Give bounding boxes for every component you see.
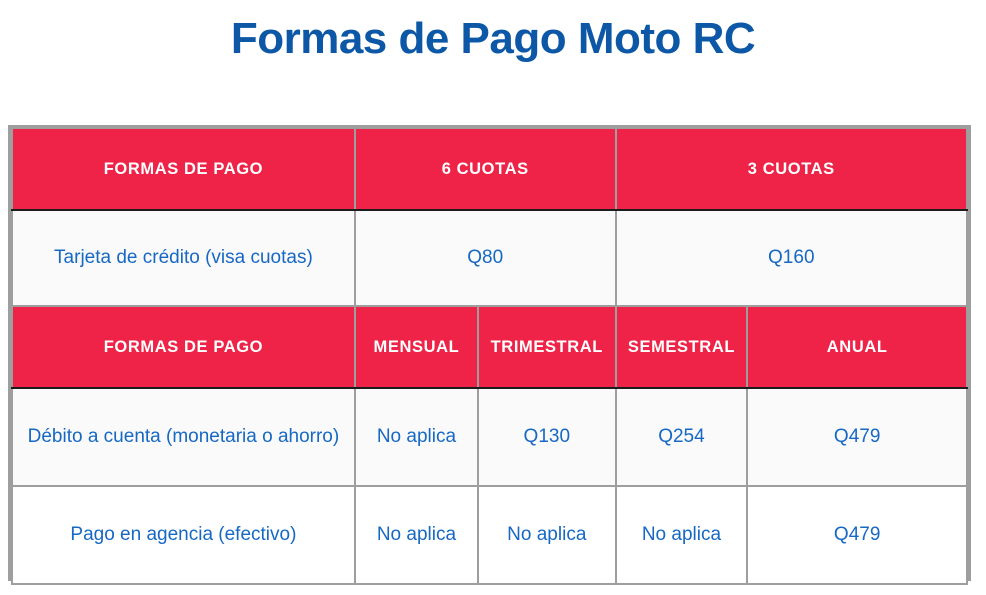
row-label-debito-cuenta: Débito a cuenta (monetaria o ahorro) — [12, 388, 355, 486]
cell-agencia-trimestral: No aplica — [478, 486, 616, 584]
payment-methods-page: Formas de Pago Moto RC FORMAS DE PAGO 6 … — [0, 0, 986, 595]
table-row-tarjeta-credito: Tarjeta de crédito (visa cuotas) Q80 Q16… — [12, 210, 967, 306]
row-label-tarjeta-credito: Tarjeta de crédito (visa cuotas) — [12, 210, 355, 306]
table-row-pago-agencia: Pago en agencia (efectivo) No aplica No … — [12, 486, 967, 584]
header-6-cuotas: 6 CUOTAS — [355, 128, 616, 210]
header-formas-de-pago-2: FORMAS DE PAGO — [12, 306, 355, 388]
header-semestral: SEMESTRAL — [616, 306, 748, 388]
cell-debito-mensual: No aplica — [355, 388, 478, 486]
header-3-cuotas: 3 CUOTAS — [616, 128, 967, 210]
cell-agencia-anual: Q479 — [747, 486, 967, 584]
cell-tarjeta-3-cuotas: Q160 — [616, 210, 967, 306]
header-mensual: MENSUAL — [355, 306, 478, 388]
header-formas-de-pago-1: FORMAS DE PAGO — [12, 128, 355, 210]
cell-tarjeta-6-cuotas: Q80 — [355, 210, 616, 306]
payment-methods-table-container: FORMAS DE PAGO 6 CUOTAS 3 CUOTAS Tarjeta… — [8, 125, 971, 581]
header-trimestral: TRIMESTRAL — [478, 306, 616, 388]
header-anual: ANUAL — [747, 306, 967, 388]
table-header-row-cuotas: FORMAS DE PAGO 6 CUOTAS 3 CUOTAS — [12, 128, 967, 210]
table-row-debito-cuenta: Débito a cuenta (monetaria o ahorro) No … — [12, 388, 967, 486]
cell-debito-trimestral: Q130 — [478, 388, 616, 486]
cell-agencia-mensual: No aplica — [355, 486, 478, 584]
cell-debito-semestral: Q254 — [616, 388, 748, 486]
page-title: Formas de Pago Moto RC — [0, 14, 986, 65]
payment-methods-table: FORMAS DE PAGO 6 CUOTAS 3 CUOTAS Tarjeta… — [11, 127, 968, 585]
row-label-pago-agencia: Pago en agencia (efectivo) — [12, 486, 355, 584]
table-header-row-periodos: FORMAS DE PAGO MENSUAL TRIMESTRAL SEMEST… — [12, 306, 967, 388]
cell-debito-anual: Q479 — [747, 388, 967, 486]
cell-agencia-semestral: No aplica — [616, 486, 748, 584]
